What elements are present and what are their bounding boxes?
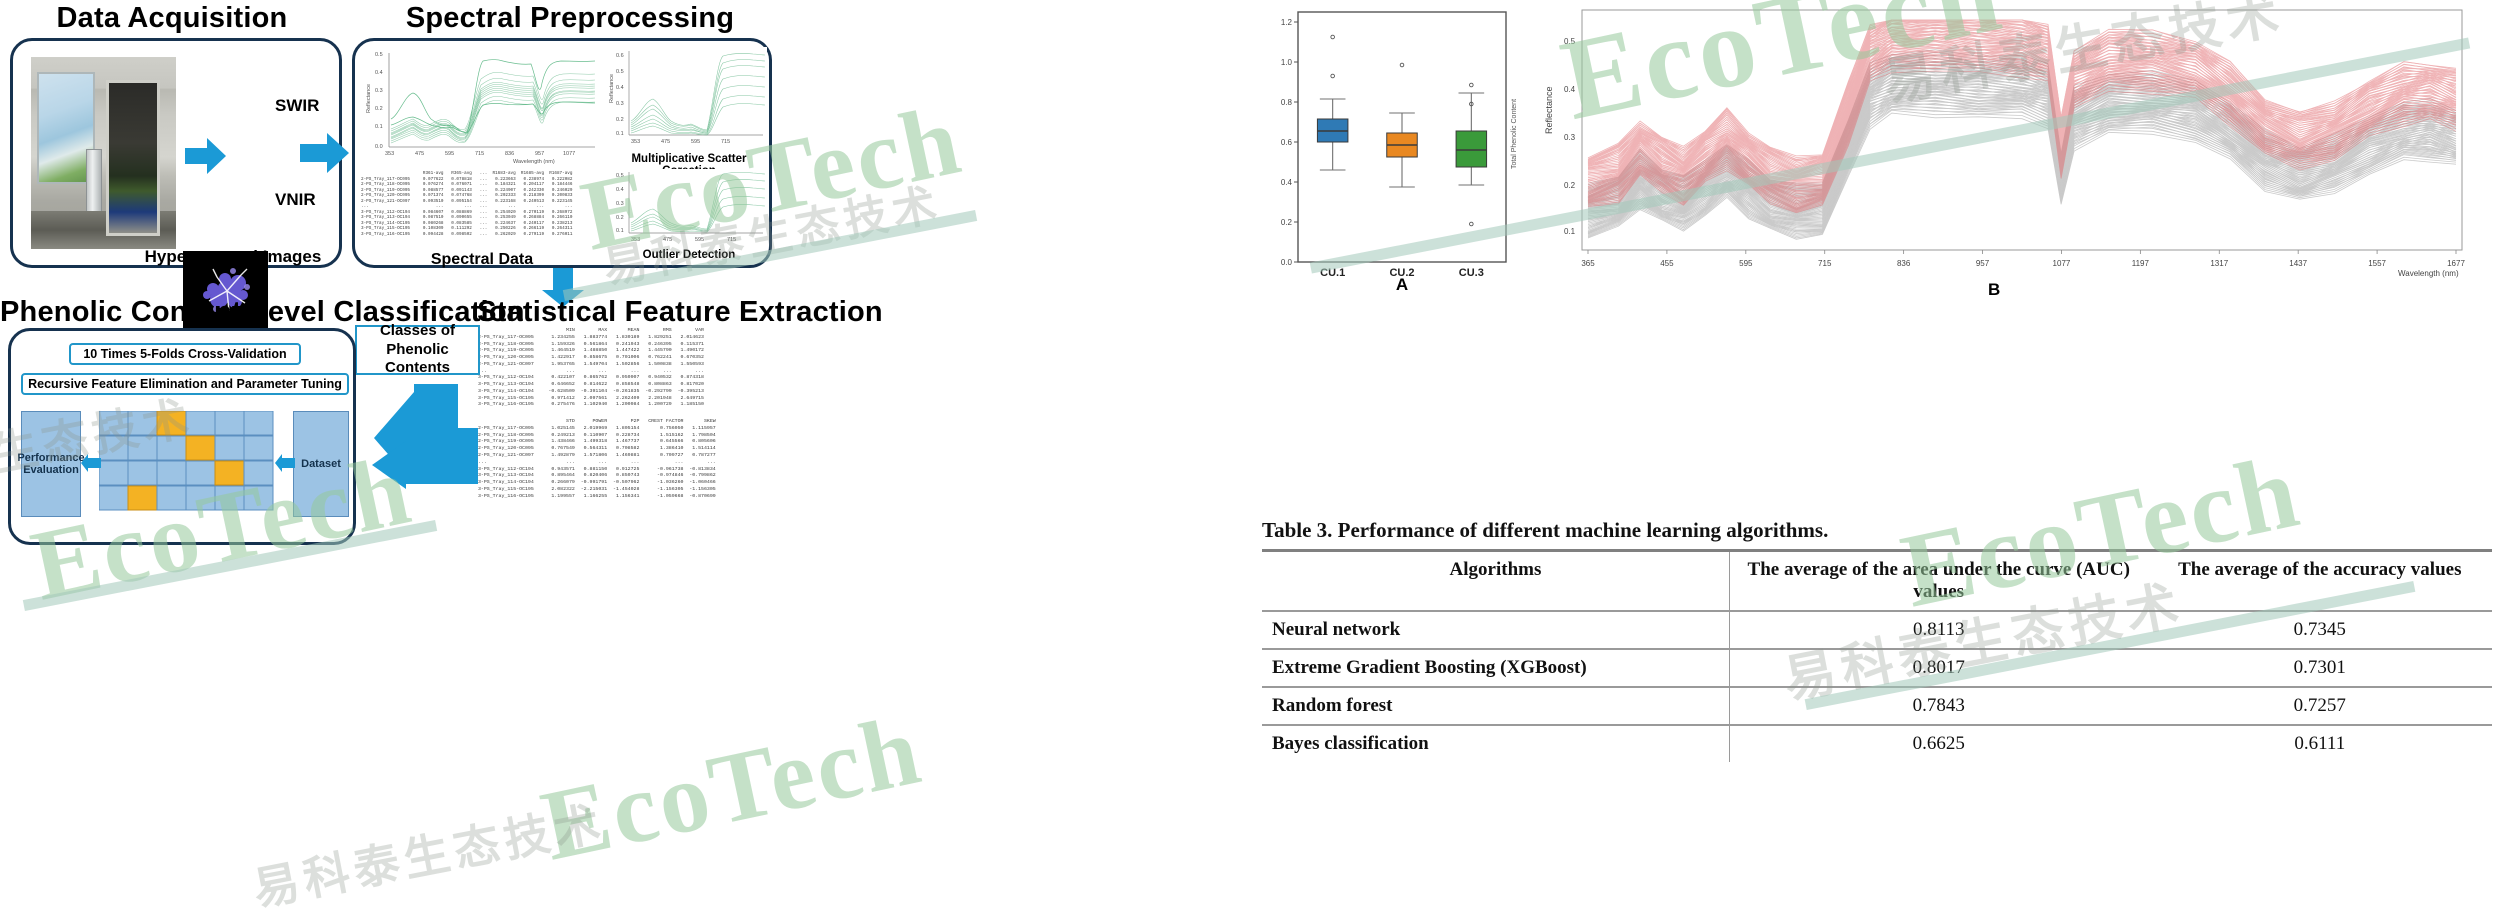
svg-text:475: 475 — [415, 151, 424, 157]
svg-text:0.4: 0.4 — [616, 187, 624, 193]
classification-title: Phenolic Content Level Classification — [0, 296, 360, 329]
greenhouse-photo: Φ — [31, 57, 176, 249]
spectra-chart-b: 0.5 0.4 0.3 0.2 0.1 Reflectance 36545559… — [1538, 4, 2478, 304]
table3-body: Neural network0.81130.7345Extreme Gradie… — [1262, 611, 2492, 762]
svg-text:595: 595 — [691, 139, 700, 145]
svg-text:Reflectance: Reflectance — [1544, 86, 1554, 134]
svg-text:0.3: 0.3 — [616, 101, 624, 107]
table3-cell-accuracy: 0.7301 — [2148, 649, 2492, 687]
svg-text:715: 715 — [475, 151, 484, 157]
rfe-box: Recursive Feature Elimination and Parame… — [21, 373, 349, 395]
svg-text:0.3: 0.3 — [616, 201, 624, 207]
svg-text:595: 595 — [695, 237, 704, 243]
boxplot-chart-a: 0.00.20.40.60.81.01.2 CU.1CU.2CU.3 A Tot… — [1270, 4, 1520, 294]
table3-cell-algorithm: Random forest — [1262, 687, 1729, 725]
chart-b-xtick: 1557 — [2368, 259, 2386, 268]
classification-panel: 10 Times 5-Folds Cross-Validation Recurs… — [8, 328, 356, 545]
table3-head: Algorithms The average of the area under… — [1262, 551, 2492, 612]
boxplot-ytick: 0.2 — [1281, 218, 1293, 227]
phi-logo: Φ — [109, 84, 118, 96]
table-row: Random forest0.78430.7257 — [1262, 687, 2492, 725]
boxplot-ytick: 0.0 — [1281, 258, 1293, 267]
data-acquisition-title: Data Acquisition — [6, 2, 338, 35]
boxplot-xtick: CU.3 — [1459, 267, 1484, 279]
msc-plot: 0.60.5 0.40.3 0.20.1 353475 595715 Refle… — [607, 47, 767, 151]
table3-cell-algorithm: Extreme Gradient Boosting (XGBoost) — [1262, 649, 1729, 687]
svg-text:957: 957 — [535, 151, 544, 157]
chart-b-xtick: 1437 — [2289, 259, 2307, 268]
table3-cell-accuracy: 0.7257 — [2148, 687, 2492, 725]
svg-text:Reflectance: Reflectance — [609, 74, 615, 103]
statistical-feature-extraction-panel: MIN MAX MEAN RMS VAR 2-PS_Tray_117-OC095… — [470, 328, 890, 873]
svg-text:A: A — [1396, 275, 1408, 294]
table3-col-algorithms: Algorithms — [1262, 551, 1729, 612]
svg-text:1077: 1077 — [563, 151, 575, 157]
svg-text:353: 353 — [385, 151, 394, 157]
svg-text:0.3: 0.3 — [1564, 133, 1576, 142]
chart-b-xtick: 1197 — [2132, 259, 2150, 268]
boxplot-ytick: 0.4 — [1281, 178, 1293, 187]
svg-text:475: 475 — [663, 237, 672, 243]
boxplot-ytick: 0.8 — [1281, 98, 1293, 107]
arrow-acquisition-to-preprocessing — [300, 130, 350, 176]
svg-text:0.0: 0.0 — [375, 144, 383, 150]
spectral-data-table: R361-avg R365-avg ... R1683-avg R1685-av… — [361, 171, 605, 237]
svg-text:0.6: 0.6 — [616, 53, 624, 59]
svg-text:353: 353 — [631, 237, 640, 243]
boxplot-xtick: CU.1 — [1320, 267, 1345, 279]
chart-b-xtick: 1317 — [2210, 259, 2228, 268]
chart-b-xtick: 455 — [1660, 259, 1674, 268]
feature-table-block-1: MIN MAX MEAN RMS VAR 2-PS_Tray_117-OC095… — [470, 328, 890, 409]
arrow-dataset-to-matrix — [275, 453, 295, 478]
table3-cell-auc: 0.8113 — [1729, 611, 2147, 649]
table3-cell-algorithm: Neural network — [1262, 611, 1729, 649]
classes-of-phenolic-contents-badge: Classes of Phenolic Contents — [355, 325, 480, 375]
svg-text:715: 715 — [721, 139, 730, 145]
svg-text:0.2: 0.2 — [1564, 181, 1576, 190]
table3-container: Table 3. Performance of different machin… — [1262, 518, 2492, 762]
table3: Algorithms The average of the area under… — [1262, 549, 2492, 762]
vnir-label: VNIR — [275, 190, 316, 210]
boxplot-ylabel: Total Phenolic Content — [1511, 99, 1518, 169]
svg-text:595: 595 — [445, 151, 454, 157]
boxplot-ytick: 1.0 — [1281, 58, 1293, 67]
chart-b-xtick: 1077 — [2053, 259, 2071, 268]
swir-label: SWIR — [275, 96, 319, 116]
data-acquisition-panel: Φ SWIR — [10, 38, 342, 268]
svg-text:Reflectance: Reflectance — [366, 84, 372, 113]
svg-text:0.5: 0.5 — [1564, 37, 1576, 46]
table3-col-auc: The average of the area under the curve … — [1729, 551, 2147, 612]
table-row: Bayes classification0.66250.6111 — [1262, 725, 2492, 762]
outlier-detection-plot: 0.50.4 0.30.20.1 353475 595715 — [607, 169, 767, 247]
svg-text:Wavelength (nm): Wavelength (nm) — [513, 159, 555, 165]
chart-b-label: B — [1988, 280, 2000, 300]
table3-cell-auc: 0.6625 — [1729, 725, 2147, 762]
svg-text:0.2: 0.2 — [616, 215, 624, 221]
spectral-data-plot: 0.50.4 0.30.2 0.10.0 353475 595715 83695… — [363, 47, 601, 167]
svg-text:0.1: 0.1 — [616, 131, 624, 137]
arrow-matrix-to-performance — [81, 453, 101, 478]
statistical-feature-extraction-title: Statistical Feature Extraction — [470, 296, 890, 329]
boxplot-ytick: 1.2 — [1281, 18, 1293, 27]
conveyor-rail — [31, 211, 176, 249]
chart-b-xtick: 957 — [1976, 259, 1990, 268]
table3-header-row: Algorithms The average of the area under… — [1262, 551, 2492, 612]
svg-text:715: 715 — [727, 237, 736, 243]
feature-table-block-2: STD POWER P2P CREST FACTOR SKEW 2-PS_Tra… — [470, 419, 890, 500]
performance-evaluation-card: Performance Evaluation — [21, 411, 81, 517]
svg-text:353: 353 — [631, 139, 640, 145]
chart-b-xtick: 365 — [1581, 259, 1595, 268]
cross-validation-box: 10 Times 5-Folds Cross-Validation — [69, 343, 301, 365]
arrow-photo-to-hsi — [185, 135, 227, 177]
chart-b-xtick: 1677 — [2447, 259, 2465, 268]
table3-cell-accuracy: 0.7345 — [2148, 611, 2492, 649]
svg-text:0.5: 0.5 — [375, 52, 383, 58]
svg-text:0.1: 0.1 — [1564, 227, 1576, 236]
svg-text:0.4: 0.4 — [375, 70, 383, 76]
svg-text:0.5: 0.5 — [616, 69, 624, 75]
boxplot-ytick: 0.6 — [1281, 138, 1293, 147]
spectral-preprocessing-title: Spectral Preprocessing — [360, 2, 780, 35]
svg-text:0.1: 0.1 — [616, 228, 624, 234]
table3-col-accuracy: The average of the accuracy values — [2148, 551, 2492, 612]
table-row: Neural network0.81130.7345 — [1262, 611, 2492, 649]
spectral-preprocessing-panel: 0.50.4 0.30.2 0.10.0 353475 595715 83695… — [352, 38, 772, 268]
svg-text:836: 836 — [505, 151, 514, 157]
svg-text:0.2: 0.2 — [616, 117, 624, 123]
chart-b-xtick: 595 — [1739, 259, 1753, 268]
svg-text:0.1: 0.1 — [375, 124, 383, 130]
hyperspectral-images-caption: Hyperspectral Images — [133, 247, 333, 267]
table3-title: Table 3. Performance of different machin… — [1262, 518, 2492, 543]
dataset-card: Dataset — [293, 411, 349, 517]
outlier-detection-caption: Outlier Detection — [605, 249, 773, 261]
spectral-data-caption: Spectral Data — [363, 251, 601, 269]
svg-text:0.4: 0.4 — [1564, 85, 1576, 94]
feature-matrix — [99, 411, 275, 517]
table3-cell-auc: 0.8017 — [1729, 649, 2147, 687]
chart-b-xtick: 715 — [1818, 259, 1832, 268]
svg-text:Wavelength (nm): Wavelength (nm) — [2398, 269, 2459, 278]
svg-text:0.4: 0.4 — [616, 85, 624, 91]
table-row: Extreme Gradient Boosting (XGBoost)0.801… — [1262, 649, 2492, 687]
table3-cell-auc: 0.7843 — [1729, 687, 2147, 725]
table3-cell-accuracy: 0.6111 — [2148, 725, 2492, 762]
chart-b-xtick: 836 — [1897, 259, 1911, 268]
svg-text:475: 475 — [661, 139, 670, 145]
table3-cell-algorithm: Bayes classification — [1262, 725, 1729, 762]
svg-text:0.2: 0.2 — [375, 106, 383, 112]
svg-text:0.5: 0.5 — [616, 173, 624, 179]
boxplot-box — [1456, 131, 1487, 167]
arrow-classes-to-classification — [370, 440, 480, 495]
svg-text:0.3: 0.3 — [375, 88, 383, 94]
